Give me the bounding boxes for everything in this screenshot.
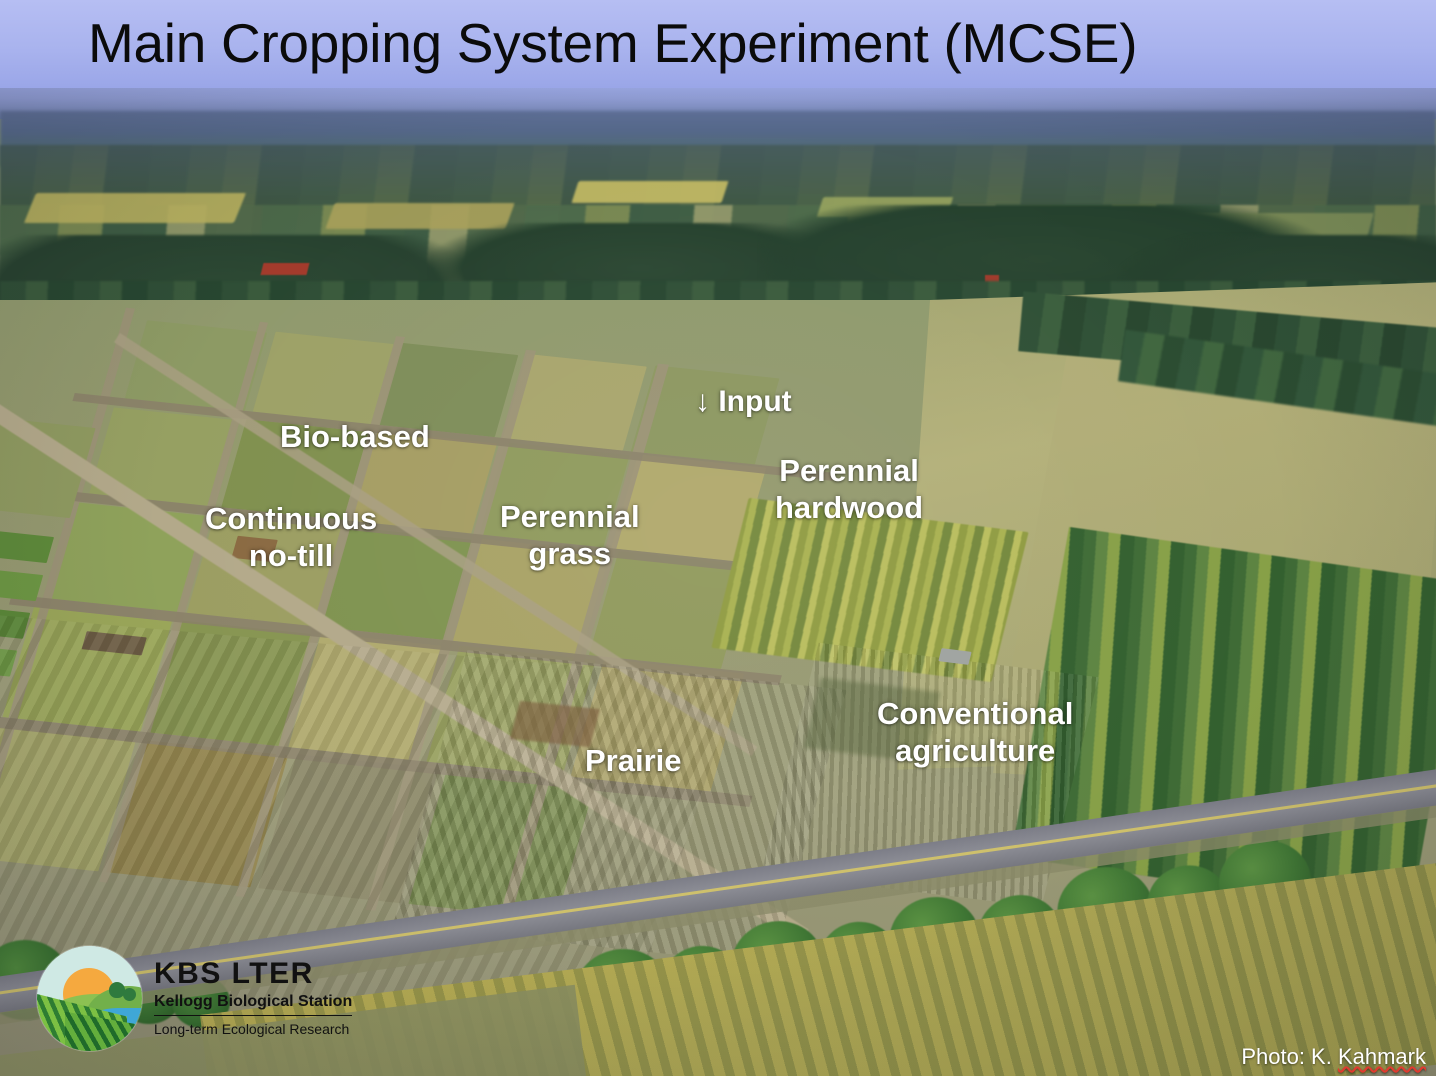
label-bio-based: Bio-based [280,418,430,455]
prairie-shrub-patch [510,701,600,747]
logo-subtitle-program: Long-term Ecological Research [154,1016,352,1040]
photo-credit-prefix: Photo: K. [1241,1044,1338,1069]
irrigated-plot [0,558,43,601]
tree-icon [123,988,136,1001]
irrigated-plot [0,521,54,563]
slide-canvas: Main Cropping System Experiment (MCSE) [0,0,1436,1076]
page-title: Main Cropping System Experiment (MCSE) [88,7,1137,79]
title-band: Main Cropping System Experiment (MCSE) [0,0,1436,88]
photo-credit: Photo: K. Kahmark [1241,1044,1426,1070]
logo-wordmark: KBS LTER Kellogg Biological Station Long… [154,957,352,1040]
label-prairie: Prairie [585,742,682,779]
photo-credit-name: Kahmark [1338,1044,1426,1069]
aerial-photograph [0,85,1436,1076]
label-conventional-agriculture: Conventional agriculture [877,695,1073,769]
red-barn [261,263,310,275]
logo-subtitle-station: Kellogg Biological Station [154,991,352,1016]
label-perennial-grass: Perennial grass [500,498,640,572]
kbs-lter-logo-mark-icon [37,946,142,1051]
label-perennial-hardwood: Perennial hardwood [775,452,923,526]
research-plot [253,332,394,424]
distant-field [24,193,246,223]
label-input-arrow: ↓ Input [695,383,792,420]
distant-field [571,181,728,203]
kbs-lter-logo: KBS LTER Kellogg Biological Station Long… [37,946,352,1051]
logo-title: KBS LTER [154,957,352,991]
label-continuous-no-till: Continuous no-till [205,500,377,574]
